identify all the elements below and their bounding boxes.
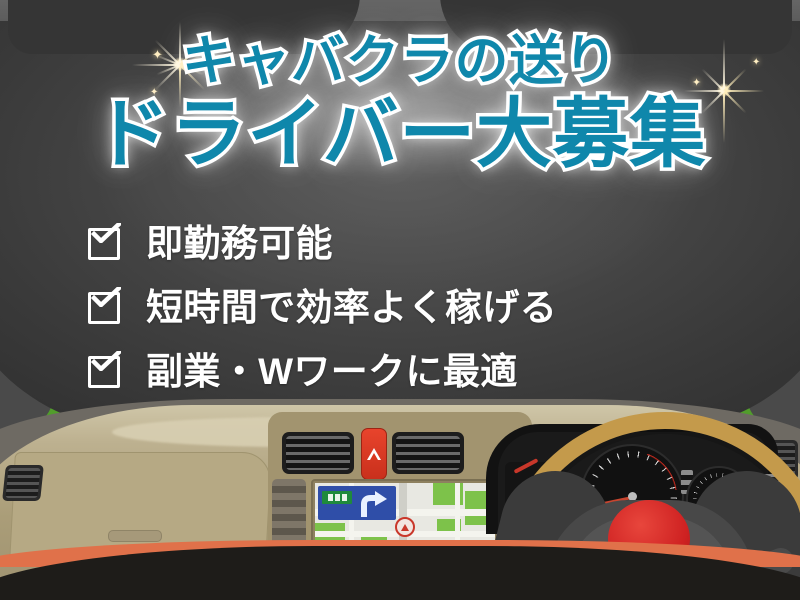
- poster-copy: ✦ ✦ ✦ ✦ キャバクラの送り ドライバー大募集 即勤務可能: [0, 0, 800, 600]
- checkbox-checked-icon: [86, 288, 118, 320]
- list-item: 即勤務可能: [86, 208, 746, 272]
- list-item-label: 短時間で効率よく稼げる: [146, 277, 557, 331]
- headline-line-2: ドライバー大募集: [0, 95, 800, 176]
- list-item: 副業・Wワークに最適: [86, 336, 746, 400]
- list-item-label: 即勤務可能: [146, 213, 333, 267]
- checkmark-glyph: [91, 223, 121, 243]
- poster-canvas: ✦ ✦ ✦ ✦ キャバクラの送り ドライバー大募集 即勤務可能: [0, 0, 800, 600]
- checkbox-checked-icon: [86, 352, 118, 384]
- list-item-label: 副業・Wワークに最適: [146, 341, 518, 395]
- headline-line-1: キャバクラの送り: [0, 33, 800, 90]
- checkmark-glyph: [91, 351, 121, 371]
- list-item: 短時間で効率よく稼げる: [86, 272, 746, 336]
- checkbox-checked-icon: [86, 224, 118, 256]
- checkmark-glyph: [91, 287, 121, 307]
- benefits-list: 即勤務可能 短時間で効率よく稼げる 副業・Wワークに最適: [86, 208, 746, 400]
